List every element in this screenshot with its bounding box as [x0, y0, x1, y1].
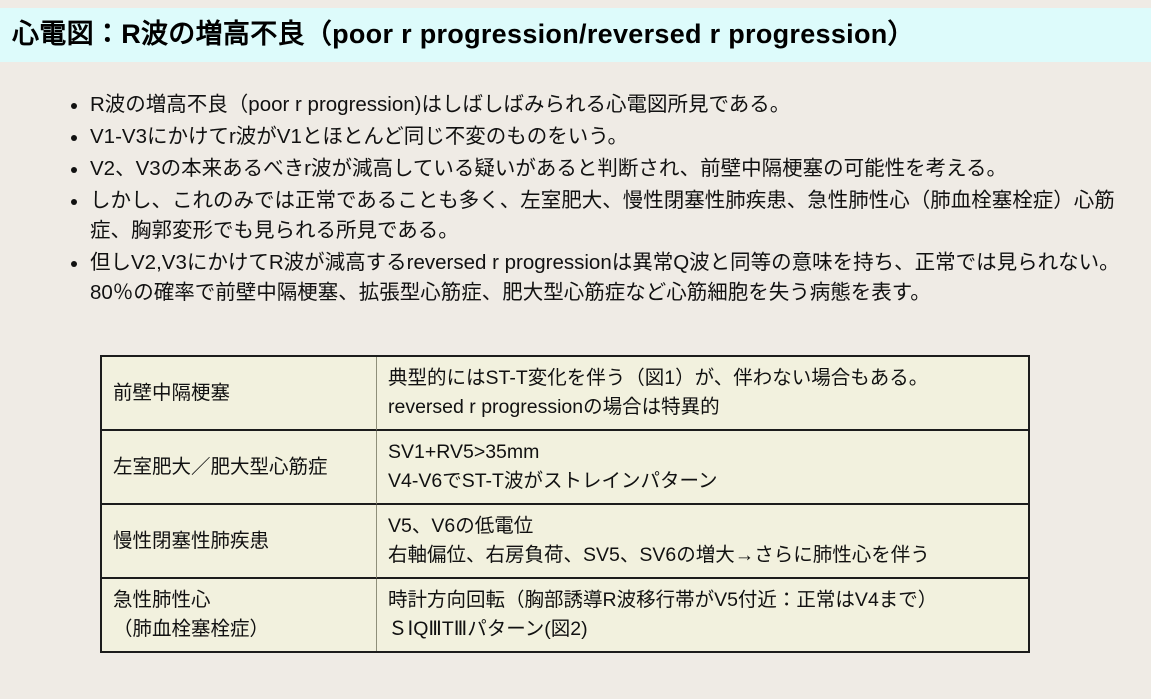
table-cell-detail: V5、V6の低電位 右軸偏位、右房負荷、SV5、SV6の増大→さらに肺性心を伴う: [377, 505, 1028, 579]
table-cell-detail: 典型的にはST-T変化を伴う（図1）が、伴わない場合もある。 reversed …: [377, 357, 1028, 431]
detail-line: SV1+RV5>35mm: [388, 438, 1019, 467]
list-item-text: V1-V3にかけてr波がV1とほとんど同じ不変のものをいう。: [90, 125, 628, 148]
list-item: 但しV2,V3にかけてR波が減高するreversed r progression…: [64, 248, 1144, 308]
list-item-text: V2、V3の本来あるべきr波が減高している疑いがあると判断され、前壁中隔梗塞の可…: [90, 157, 1007, 180]
detail-line: V4-V6でST-T波がストレインパターン: [388, 467, 1019, 496]
detail-line: 典型的にはST-T変化を伴う（図1）が、伴わない場合もある。: [388, 364, 1019, 393]
table-row: 慢性閉塞性肺疾患 V5、V6の低電位 右軸偏位、右房負荷、SV5、SV6の増大→…: [102, 505, 1028, 579]
list-item: R波の増高不良（poor r progression)はしばしばみられる心電図所…: [64, 90, 1144, 120]
table-cell-condition: 左室肥大／肥大型心筋症: [102, 431, 377, 505]
list-item: V2、V3の本来あるべきr波が減高している疑いがあると判断され、前壁中隔梗塞の可…: [64, 154, 1144, 184]
page-title-banner: 心電図：R波の増高不良（poor r progression/reversed …: [0, 8, 1151, 62]
list-item-text: しかし、これのみでは正常であることも多く、左室肥大、慢性閉塞性肺疾患、急性肺性心…: [90, 189, 1115, 242]
detail-line: reversed r progressionの場合は特異的: [388, 393, 1019, 422]
detail-line: ＳⅠQⅢTⅢパターン(図2): [388, 615, 1019, 644]
findings-bullet-list: R波の増高不良（poor r progression)はしばしばみられる心電図所…: [64, 90, 1144, 310]
condition-line: 慢性閉塞性肺疾患: [113, 527, 367, 556]
differential-diagnosis-table: 前壁中隔梗塞 典型的にはST-T変化を伴う（図1）が、伴わない場合もある。 re…: [100, 355, 1030, 653]
condition-line: 左室肥大／肥大型心筋症: [113, 453, 367, 482]
table-cell-condition: 急性肺性心 （肺血栓塞栓症）: [102, 579, 377, 651]
table-cell-condition: 前壁中隔梗塞: [102, 357, 377, 431]
condition-line: 急性肺性心: [113, 586, 367, 615]
detail-line: V5、V6の低電位: [388, 512, 1019, 541]
condition-line: 前壁中隔梗塞: [113, 379, 367, 408]
table-cell-detail: SV1+RV5>35mm V4-V6でST-T波がストレインパターン: [377, 431, 1028, 505]
condition-line: （肺血栓塞栓症）: [113, 615, 367, 644]
table-cell-detail: 時計方向回転（胸部誘導R波移行帯がV5付近：正常はV4まで） ＳⅠQⅢTⅢパター…: [377, 579, 1028, 651]
table-row: 前壁中隔梗塞 典型的にはST-T変化を伴う（図1）が、伴わない場合もある。 re…: [102, 357, 1028, 431]
detail-line: 時計方向回転（胸部誘導R波移行帯がV5付近：正常はV4まで）: [388, 586, 1019, 615]
table-row: 急性肺性心 （肺血栓塞栓症） 時計方向回転（胸部誘導R波移行帯がV5付近：正常は…: [102, 579, 1028, 651]
table-cell-condition: 慢性閉塞性肺疾患: [102, 505, 377, 579]
list-item: しかし、これのみでは正常であることも多く、左室肥大、慢性閉塞性肺疾患、急性肺性心…: [64, 186, 1144, 246]
detail-line: 右軸偏位、右房負荷、SV5、SV6の増大→さらに肺性心を伴う: [388, 541, 1019, 570]
table-row: 左室肥大／肥大型心筋症 SV1+RV5>35mm V4-V6でST-T波がストレ…: [102, 431, 1028, 505]
differential-table-container: 前壁中隔梗塞 典型的にはST-T変化を伴う（図1）が、伴わない場合もある。 re…: [100, 355, 1030, 653]
page-title: 心電図：R波の増高不良（poor r progression/reversed …: [12, 20, 915, 50]
list-item: V1-V3にかけてr波がV1とほとんど同じ不変のものをいう。: [64, 122, 1144, 152]
list-item-text: 但しV2,V3にかけてR波が減高するreversed r progression…: [90, 251, 1120, 304]
list-item-text: R波の増高不良（poor r progression)はしばしばみられる心電図所…: [90, 93, 790, 116]
